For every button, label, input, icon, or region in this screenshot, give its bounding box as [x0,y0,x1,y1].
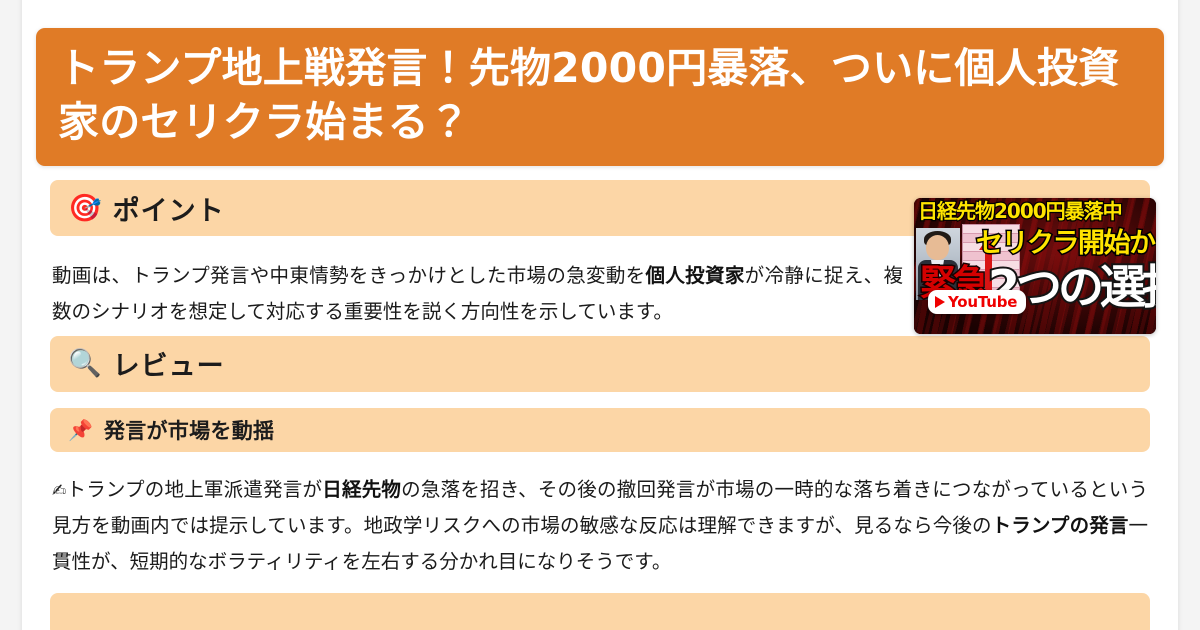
magnifying-glass-icon: 🔍 [68,350,102,377]
subsection-header-statement: 📌 発言が市場を動揺 [50,408,1150,452]
body-text: 動画は、トランプ発言や中東情勢をきっかけとした市場の急変動を [52,264,646,287]
emphasis-text: 個人投資家 [646,264,745,287]
point-paragraph: 動画は、トランプ発言や中東情勢をきっかけとした市場の急変動を個人投資家が冷静に捉… [50,252,905,330]
youtube-badge-label: YouTube [948,293,1017,311]
presenter-head [926,235,949,260]
subsection-header-next [50,593,1150,630]
pushpin-icon: 📌 [68,420,93,440]
body-text: トランプの地上軍派遣発言が [66,478,322,501]
thumbnail-headline-2: セリクラ開始か [976,230,1155,257]
article-title-banner: トランプ地上戦発言！先物2000円暴落、ついに個人投資家のセリクラ始まる？ [36,28,1164,166]
page-root: トランプ地上戦発言！先物2000円暴落、ついに個人投資家のセリクラ始まる？ [0,0,1200,630]
page-title: トランプ地上戦発言！先物2000円暴落、ついに個人投資家のセリクラ始まる？ [58,41,1142,149]
writing-hand-icon: ✍ [52,481,66,501]
dart-board-icon: 🎯 [68,195,102,222]
article-body: 日経先物2000円暴落中 セリクラ開始か 緊急 2つの選択 YouTube 🎯 … [22,180,1178,630]
subsection-paragraph: ✍トランプの地上軍派遣発言が日経先物の急落を招き、その後の撤回発言が市場の一時的… [50,466,1150,580]
subsection-header-statement-label: 発言が市場を動揺 [104,415,274,445]
video-thumbnail[interactable]: 日経先物2000円暴落中 セリクラ開始か 緊急 2つの選択 YouTube [914,198,1156,334]
emphasis-text: トランプの発言 [992,514,1129,537]
youtube-badge[interactable]: YouTube [928,290,1026,314]
section-header-review-label: レビュー [113,344,225,383]
thumbnail-headline-1: 日経先物2000円暴落中 [918,201,1122,221]
emphasis-text: 日経先物 [322,478,401,501]
play-triangle-icon [935,296,945,308]
section-header-review: 🔍 レビュー [50,336,1150,392]
section-header-point-label: ポイント [113,189,225,228]
